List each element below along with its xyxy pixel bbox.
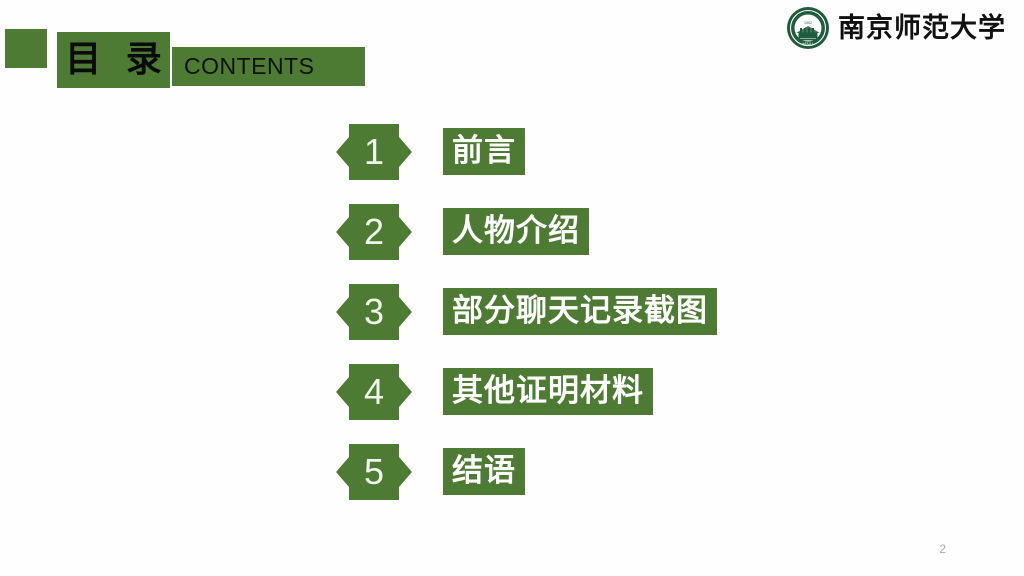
page-number: 2 <box>939 542 946 556</box>
toc-item-1[interactable]: 1 前言 <box>335 118 935 198</box>
contents-title-block: 目 录 <box>57 32 170 88</box>
toc-title-block[interactable]: 其他证明材料 <box>443 368 653 415</box>
chevron-left-icon <box>336 137 349 167</box>
toc-number-box: 4 <box>349 364 399 420</box>
toc-title-block[interactable]: 部分聊天记录截图 <box>443 288 717 335</box>
toc-number-group: 3 <box>335 284 413 340</box>
svg-text:MNU: MNU <box>802 41 813 46</box>
toc-number-group: 4 <box>335 364 413 420</box>
toc-item-4[interactable]: 4 其他证明材料 <box>335 358 935 438</box>
toc-number-box: 3 <box>349 284 399 340</box>
toc-item-5[interactable]: 5 结语 <box>335 438 935 518</box>
toc-number: 5 <box>364 454 384 490</box>
toc-title: 结语 <box>452 456 516 487</box>
toc-item-3[interactable]: 3 部分聊天记录截图 <box>335 278 935 358</box>
chevron-right-icon <box>399 457 412 487</box>
toc-title: 人物介绍 <box>452 216 580 247</box>
toc-number-group: 1 <box>335 124 413 180</box>
chevron-left-icon <box>336 377 349 407</box>
toc-title: 其他证明材料 <box>452 376 644 407</box>
slide-header: CONTENTS 目 录 <box>0 0 420 110</box>
contents-english-label: CONTENTS <box>184 53 315 80</box>
slide-canvas: CONTENTS 目 录 MNU 1902 南京师范大学 <box>0 0 1024 576</box>
toc-number-group: 2 <box>335 204 413 260</box>
toc-title: 部分聊天记录截图 <box>452 296 708 327</box>
header-accent-square <box>5 29 47 68</box>
toc-item-2[interactable]: 2 人物介绍 <box>335 198 935 278</box>
chevron-left-icon <box>336 297 349 327</box>
contents-bar: CONTENTS <box>172 47 365 86</box>
toc-number-box: 5 <box>349 444 399 500</box>
university-emblem-icon: MNU 1902 <box>786 6 830 50</box>
chevron-right-icon <box>399 297 412 327</box>
toc-number-box: 2 <box>349 204 399 260</box>
toc-title-block[interactable]: 前言 <box>443 128 525 175</box>
toc-number: 1 <box>364 134 384 170</box>
toc-number: 4 <box>364 374 384 410</box>
table-of-contents: 1 前言 2 人物介绍 3 <box>335 118 935 518</box>
toc-number: 2 <box>364 214 384 250</box>
toc-number: 3 <box>364 294 384 330</box>
chevron-right-icon <box>399 377 412 407</box>
contents-chinese-label: 目 录 <box>59 42 168 78</box>
chevron-left-icon <box>336 457 349 487</box>
university-name: 南京师范大学 <box>838 15 1006 42</box>
chevron-right-icon <box>399 217 412 247</box>
toc-title: 前言 <box>452 136 516 167</box>
university-logo: MNU 1902 南京师范大学 <box>786 4 1006 52</box>
toc-number-box: 1 <box>349 124 399 180</box>
chevron-right-icon <box>399 137 412 167</box>
toc-number-group: 5 <box>335 444 413 500</box>
toc-title-block[interactable]: 人物介绍 <box>443 208 589 255</box>
chevron-left-icon <box>336 217 349 247</box>
toc-title-block[interactable]: 结语 <box>443 448 525 495</box>
svg-text:1902: 1902 <box>804 21 812 25</box>
